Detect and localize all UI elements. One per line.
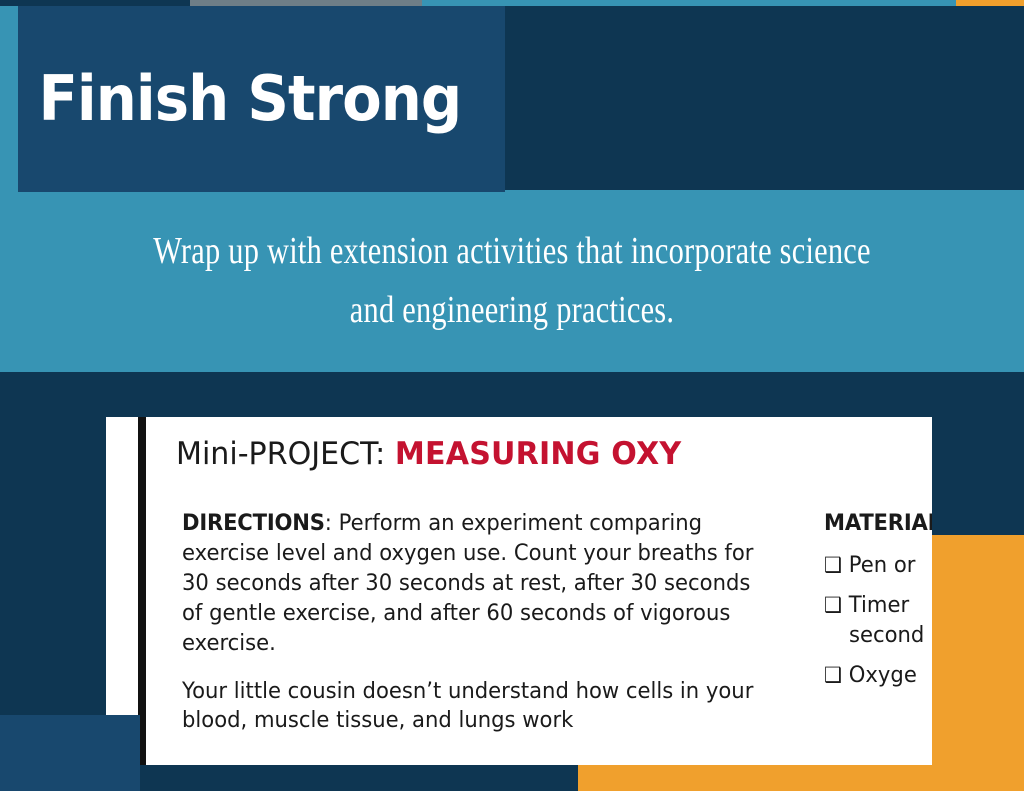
right-orange-block — [932, 535, 1024, 791]
teal-corner-fill — [0, 170, 18, 192]
materials-item-continuation: second — [824, 621, 932, 651]
bottom-orange-block — [578, 765, 1024, 791]
slide-canvas: Wrap up with extension activities that i… — [0, 0, 1024, 791]
checkbox-icon: ❑ — [824, 553, 842, 577]
worksheet-materials-list: ❑ Pen or ❑ Timer second ❑ Oxyge — [824, 551, 932, 691]
worksheet-left-margin — [106, 417, 138, 765]
materials-list-item: ❑ Timer second — [824, 591, 932, 651]
worksheet-directions: DIRECTIONS: Perform an experiment compar… — [182, 509, 758, 736]
worksheet-materials: MATERIALS ❑ Pen or ❑ Timer second ❑ Oxyg… — [824, 509, 932, 701]
worksheet-paragraph-two: Your little cousin doesn’t understand ho… — [182, 677, 758, 737]
worksheet-heading-plain: Mini-PROJECT: — [176, 436, 395, 472]
worksheet-heading: Mini-PROJECT: MEASURING OXY — [176, 439, 681, 470]
materials-list-item: ❑ Pen or — [824, 551, 932, 581]
bottom-left-navy-block — [0, 715, 140, 791]
materials-item-text: Timer — [849, 593, 909, 618]
worksheet-directions-label: DIRECTIONS — [182, 511, 325, 536]
worksheet-page: Mini-PROJECT: MEASURING OXY DIRECTIONS: … — [106, 417, 932, 765]
worksheet-directions-paragraph: DIRECTIONS: Perform an experiment compar… — [182, 509, 758, 659]
slide-title: Finish Strong — [18, 68, 461, 130]
checkbox-icon: ❑ — [824, 593, 842, 617]
materials-item-text: Pen or — [849, 553, 916, 578]
materials-item-text: Oxyge — [849, 663, 917, 688]
top-accent-strip-orange — [956, 0, 1024, 6]
left-edge-teal-bar — [0, 6, 18, 190]
worksheet-vertical-rule-icon — [138, 417, 146, 765]
materials-list-item: ❑ Oxyge — [824, 661, 932, 691]
subtitle-band: Wrap up with extension activities that i… — [0, 190, 1024, 372]
checkbox-icon: ❑ — [824, 663, 842, 687]
slide-subtitle: Wrap up with extension activities that i… — [136, 222, 888, 340]
worksheet-heading-red: MEASURING OXY — [395, 436, 681, 472]
worksheet-image: Mini-PROJECT: MEASURING OXY DIRECTIONS: … — [106, 417, 932, 765]
title-plate: Finish Strong — [18, 6, 505, 192]
worksheet-materials-title: MATERIALS — [824, 509, 932, 539]
